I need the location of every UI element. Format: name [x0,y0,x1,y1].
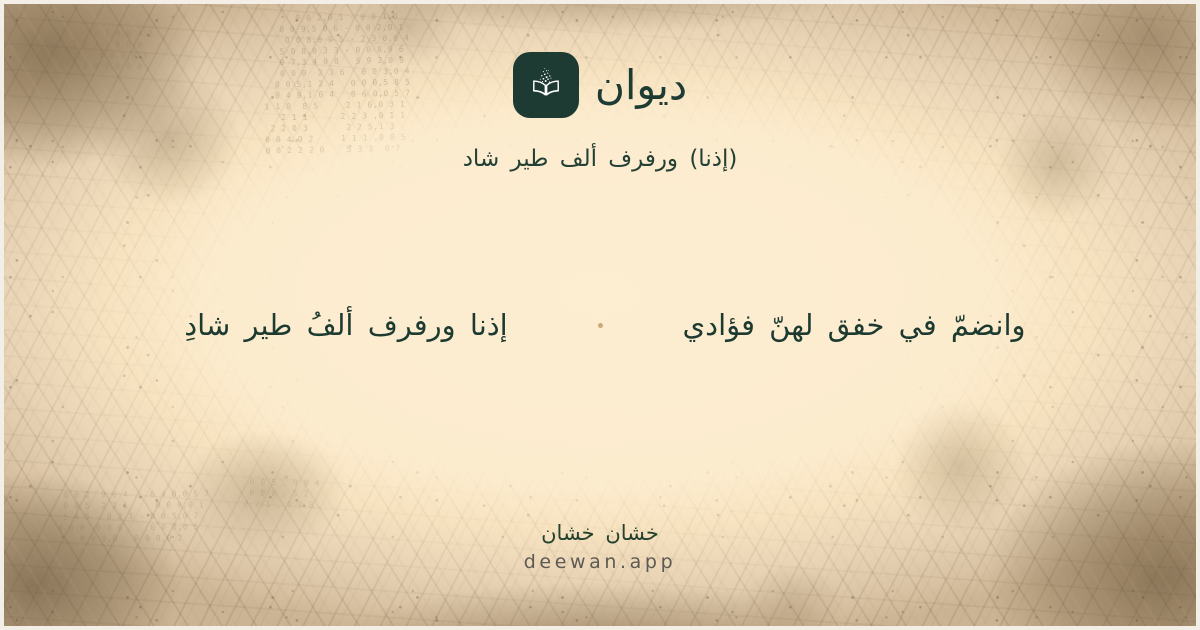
card-content: ديوان (إذنا) ورفرف ألف طير شاد [0,0,1200,630]
brand-lockup: ديوان [513,52,687,118]
poem-subtitle: (إذنا) ورفرف ألف طير شاد [463,144,738,175]
poem-card: 1,0 0 0 - 1 2,0 0 0 1 2,0 0 0 - 6 0 9,5 … [0,0,1200,630]
brand-name: ديوان [595,65,687,106]
deewan-logo-tile [513,52,579,118]
open-book-sparkles-icon [525,64,567,106]
